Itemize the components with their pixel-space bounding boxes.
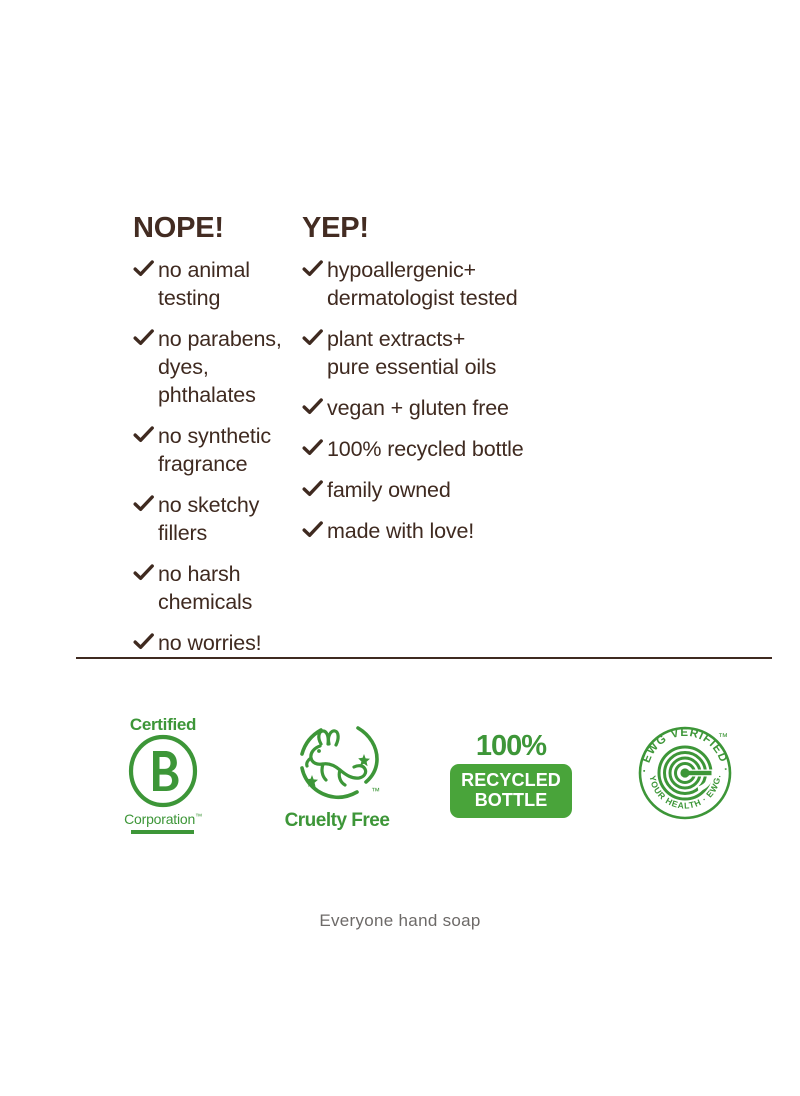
recycled-line-1: RECYCLED <box>461 771 561 790</box>
certification-badges-row: Certified Corporation™ <box>76 700 772 850</box>
list-item-label: made with love! <box>327 517 474 545</box>
b-corp-underline <box>131 830 194 834</box>
product-caption: Everyone hand soap <box>0 911 800 931</box>
yep-list: hypoallergenic+ dermatologist tested pla… <box>302 256 660 545</box>
list-item: made with love! <box>302 517 660 545</box>
badge-ewg-verified: · EWG VERIFIED · FOR YOUR HEALTH · EWG.O… <box>598 700 772 850</box>
recycled-bottle-icon: RECYCLED BOTTLE <box>450 764 572 818</box>
claims-section: NOPE! no animal testing <box>0 214 800 657</box>
check-icon <box>133 560 155 586</box>
list-item-label: no worries! <box>158 629 262 657</box>
list-item-label: family owned <box>327 476 451 504</box>
claims-column-nope: NOPE! no animal testing <box>0 214 300 657</box>
b-corp-corporation-text: Corporation <box>124 811 195 827</box>
list-item: hypoallergenic+ dermatologist tested <box>302 256 660 312</box>
nope-heading: NOPE! <box>133 214 300 243</box>
recycled-line-2: BOTTLE <box>461 791 561 810</box>
list-item-label: vegan + gluten free <box>327 394 509 422</box>
list-item-label: no sketchy fillers <box>158 491 300 547</box>
check-icon <box>133 256 155 282</box>
check-icon <box>133 629 155 655</box>
cruelty-free-label: Cruelty Free <box>285 810 390 832</box>
check-icon <box>133 491 155 517</box>
recycled-percent-label: 100% <box>476 732 546 761</box>
list-item-label: hypoallergenic+ dermatologist tested <box>327 256 518 312</box>
claims-column-yep: YEP! hypoallergenic+ dermatologist teste… <box>300 214 660 545</box>
list-item-label: no synthetic fragrance <box>158 422 271 478</box>
list-item-label: 100% recycled bottle <box>327 435 524 463</box>
check-icon <box>133 422 155 448</box>
yep-heading: YEP! <box>302 214 660 243</box>
list-item: no worries! <box>133 629 300 657</box>
trademark-icon: ™ <box>195 813 202 820</box>
check-icon <box>133 325 155 351</box>
list-item-label: no animal testing <box>158 256 300 312</box>
list-item: vegan + gluten free <box>302 394 660 422</box>
check-icon <box>302 256 324 282</box>
list-item: no sketchy fillers <box>133 491 300 547</box>
list-item-label: no harsh chemicals <box>158 560 300 616</box>
b-corp-corporation-label: Corporation™ <box>124 812 202 826</box>
trademark-icon: ™ <box>371 786 380 796</box>
list-item: no harsh chemicals <box>133 560 300 616</box>
list-item: no animal testing <box>133 256 300 312</box>
leaping-bunny-icon: ™ <box>288 718 386 809</box>
check-icon <box>302 517 324 543</box>
section-divider <box>76 657 772 659</box>
list-item: no synthetic fragrance <box>133 422 300 478</box>
ewg-verified-icon: · EWG VERIFIED · FOR YOUR HEALTH · EWG.O… <box>632 720 738 831</box>
product-claims-panel: NOPE! no animal testing <box>0 0 800 1096</box>
list-item: no parabens, dyes, phthalates <box>133 325 300 409</box>
list-item: 100% recycled bottle <box>302 435 660 463</box>
list-item: plant extracts+ pure essential oils <box>302 325 660 381</box>
nope-list: no animal testing no parabens, dyes, pht… <box>133 256 300 657</box>
check-icon <box>302 325 324 351</box>
list-item-label: plant extracts+ pure essential oils <box>327 325 496 381</box>
trademark-icon: ™ <box>718 732 728 743</box>
list-item-label: no parabens, dyes, phthalates <box>158 325 300 409</box>
b-corp-footer: Corporation™ <box>124 812 202 834</box>
badge-recycled-bottle: 100% RECYCLED BOTTLE <box>424 700 598 850</box>
badge-b-corporation: Certified Corporation™ <box>76 700 250 850</box>
b-corp-icon <box>126 734 200 812</box>
check-icon <box>302 476 324 502</box>
check-icon <box>302 435 324 461</box>
b-corp-certified-label: Certified <box>130 716 196 733</box>
check-icon <box>302 394 324 420</box>
list-item: family owned <box>302 476 660 504</box>
badge-cruelty-free: ™ Cruelty Free <box>250 700 424 850</box>
